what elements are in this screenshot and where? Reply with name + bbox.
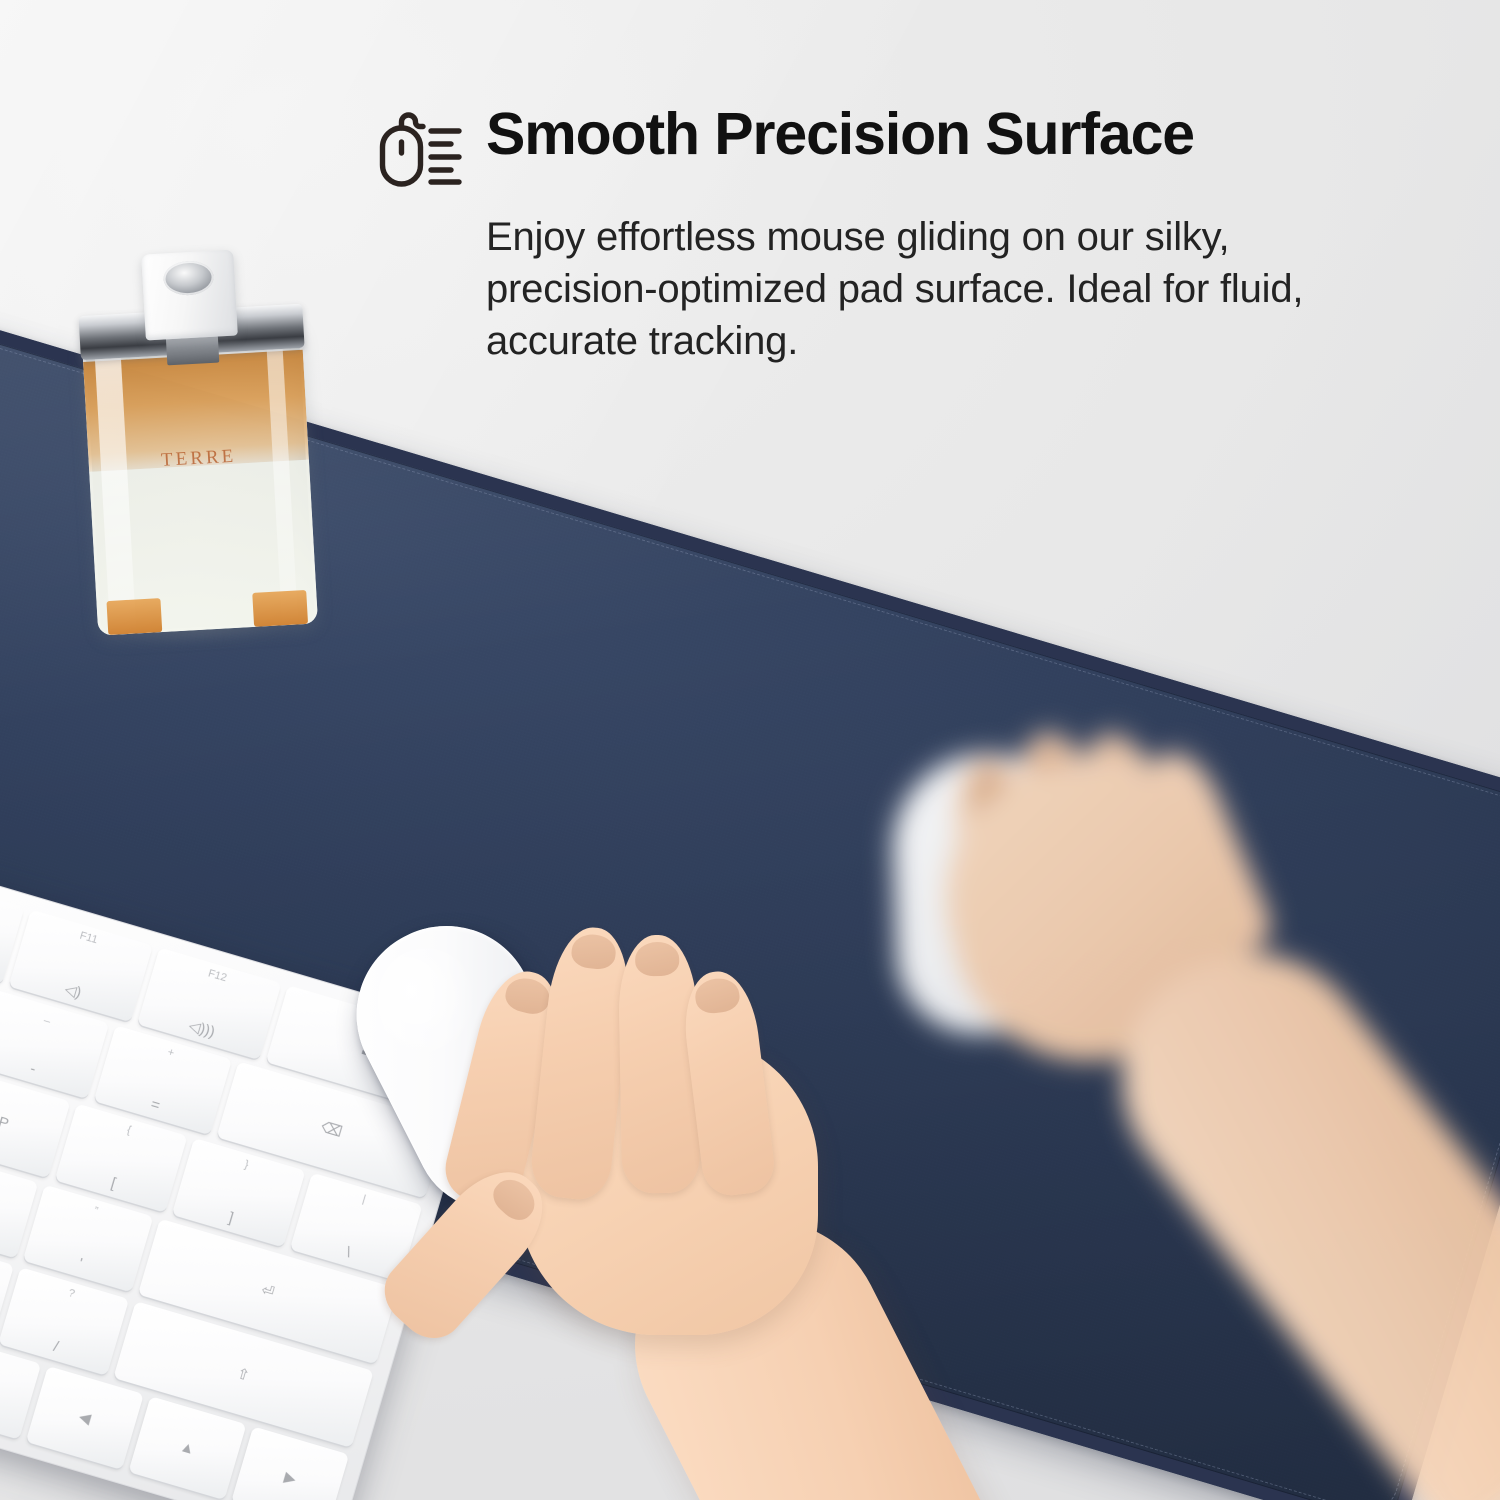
keyboard-key-secondary-label: F11 <box>78 930 99 947</box>
keyboard-key-label: ⏎ <box>259 1281 276 1302</box>
perfume-bottle: TERRE <box>49 245 338 649</box>
keyboard-key-secondary-label: } <box>243 1159 250 1172</box>
keyboard-key-secondary-label: | <box>361 1193 367 1205</box>
keyboard-key-secondary-label: { <box>126 1124 133 1137</box>
bottle-foot-left <box>106 598 162 635</box>
keyboard-key-secondary-label: _ <box>44 1010 53 1023</box>
keyboard-key-secondary-label: + <box>166 1046 176 1059</box>
keyboard-key-secondary-label: ” <box>92 1204 99 1217</box>
keyboard-key-label: ◀ <box>77 1407 93 1428</box>
keyboard-key-label: ] <box>227 1209 236 1226</box>
keyboard-key-label: ⇧ <box>235 1364 252 1385</box>
keyboard-key-label: / <box>52 1338 61 1355</box>
bottle-foot-right <box>252 590 308 627</box>
keyboard-key-secondary-label: ? <box>67 1287 76 1300</box>
feature-text-block: Smooth Precision Surface Enjoy effortles… <box>378 105 1453 367</box>
keyboard-key-secondary-label: F12 <box>207 967 229 984</box>
feature-description: Enjoy effortless mouse gliding on our si… <box>486 211 1396 367</box>
keyboard-key-label: ▶ <box>282 1468 298 1489</box>
perfume-bottle-cap <box>141 250 238 341</box>
keyboard-key-label: \ <box>344 1243 353 1260</box>
keyboard-key-label: - <box>28 1060 38 1078</box>
perfume-bottle-glass: TERRE <box>82 324 318 636</box>
keyboard-key-label: = <box>149 1096 162 1115</box>
perfume-cap-emblem <box>163 260 215 297</box>
keyboard-key-label: [ <box>109 1174 118 1191</box>
product-feature-scene: F9F10◁F11◁)F12◁)))⏏(9)0_-+=⌫IOP{[}]|\KL:… <box>0 0 1500 1500</box>
keyboard-key-label: ◁) <box>63 979 84 1001</box>
keyboard-key-label: P <box>0 1114 11 1133</box>
keyboard-key-label: ▲ <box>178 1438 197 1459</box>
keyboard-key-label: ◁))) <box>187 1016 218 1041</box>
mouse-with-motion-lines-icon <box>378 111 464 189</box>
keyboard-key-label: ' <box>77 1255 85 1272</box>
page-title: Smooth Precision Surface <box>486 105 1194 164</box>
keyboard-key-label: ⌫ <box>319 1118 344 1141</box>
